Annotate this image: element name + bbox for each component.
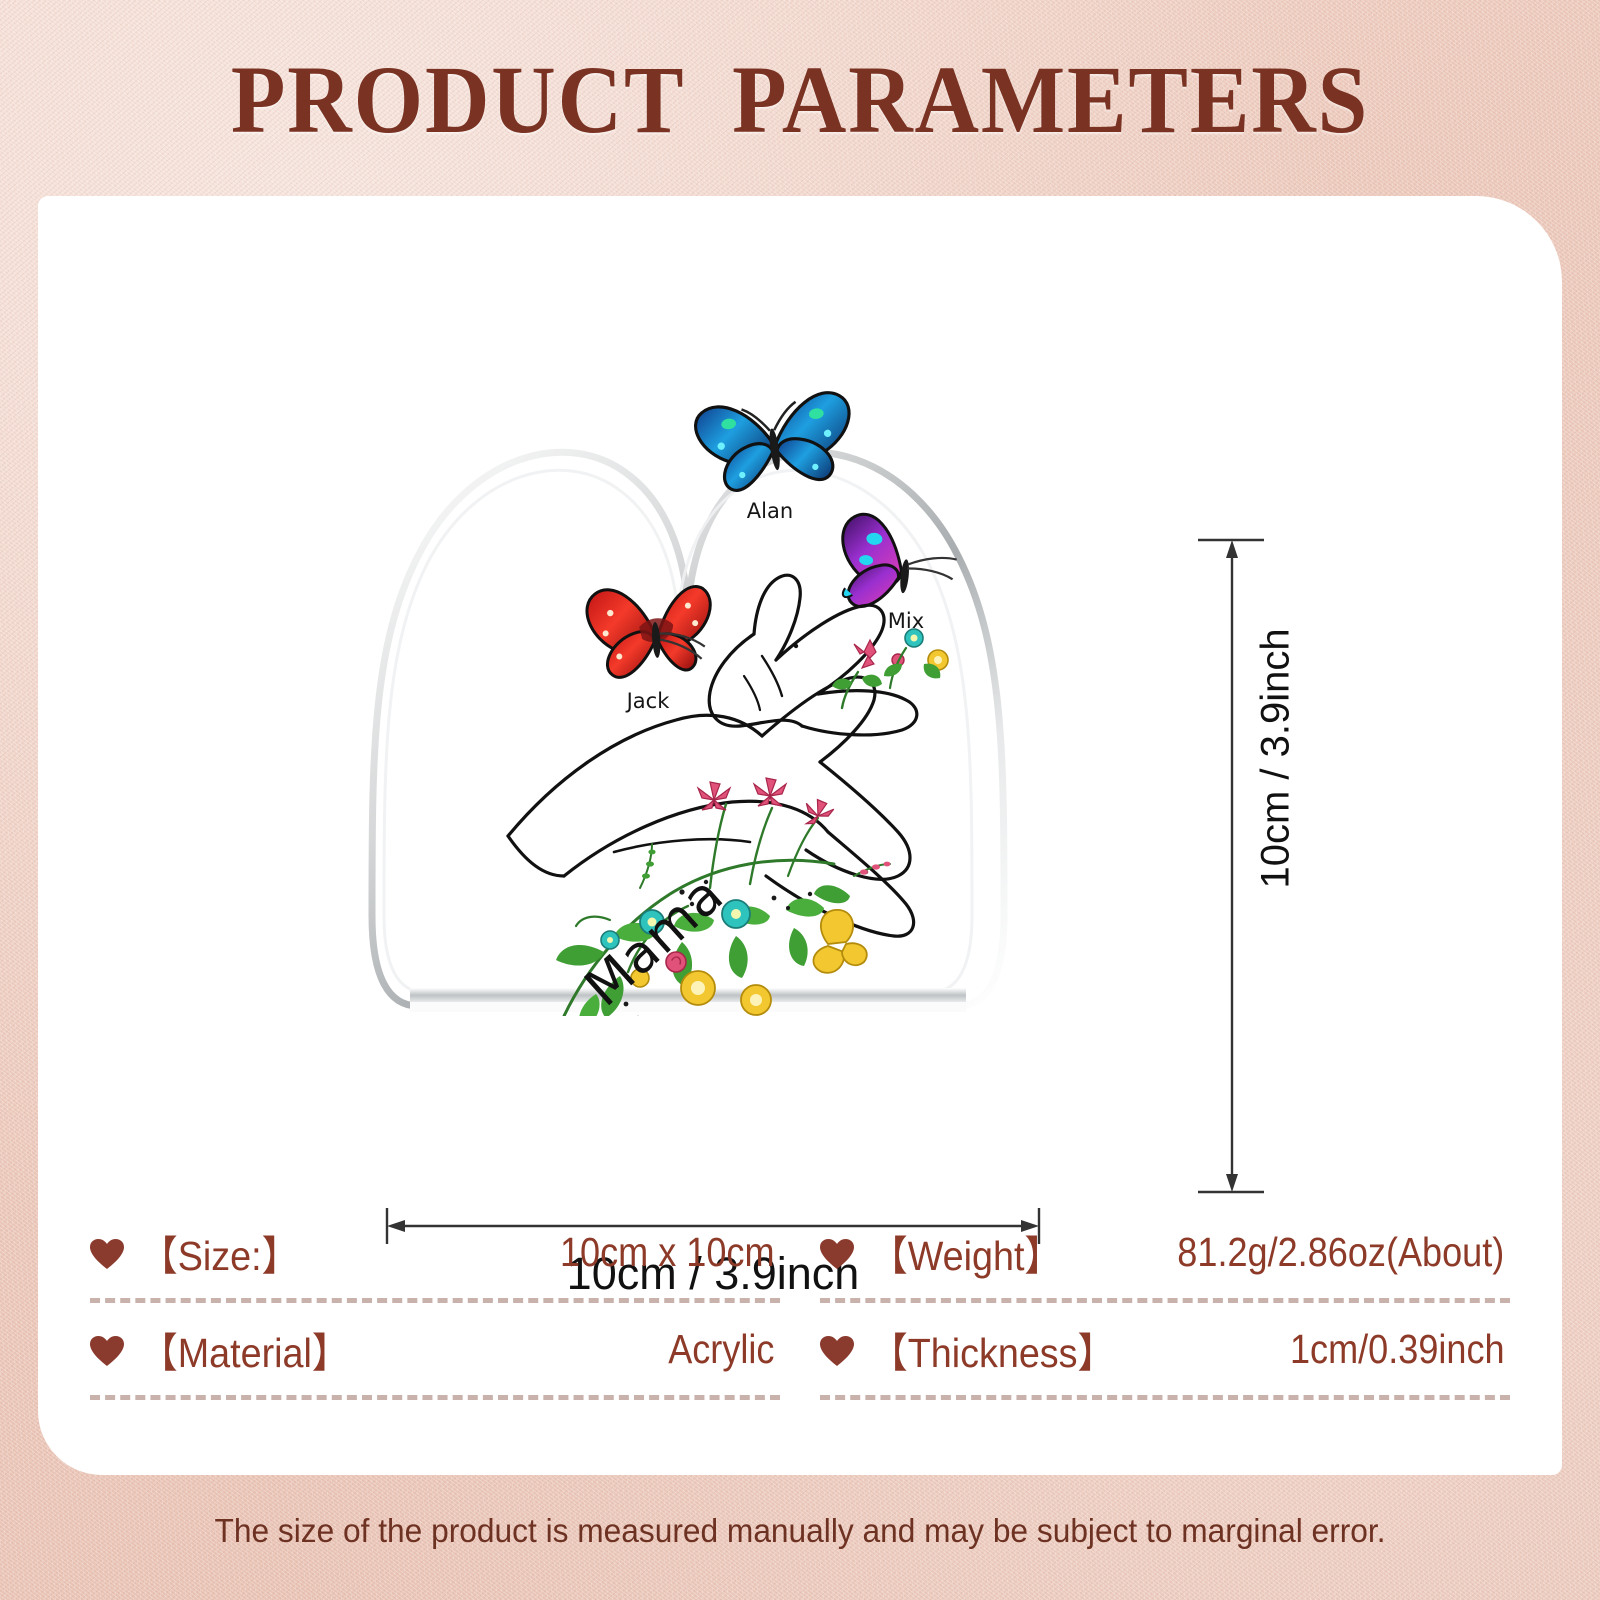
heart-bullet-icon bbox=[820, 1239, 854, 1270]
spec-divider bbox=[820, 1395, 1510, 1400]
measurement-disclaimer: The size of the product is measured manu… bbox=[32, 1512, 1568, 1550]
page-title: PRODUCT PARAMETERS bbox=[56, 44, 1544, 155]
content-card: Alan Mix bbox=[38, 196, 1562, 1475]
spec-column-right: 【Weight】 81.2g/2.86oz(About) 【Thickness】… bbox=[820, 1206, 1510, 1456]
spec-value-material: Acrylic bbox=[668, 1326, 780, 1373]
spec-row-thickness: 【Thickness】 1cm/0.39inch bbox=[820, 1303, 1510, 1395]
spec-label-material: 【Material】 bbox=[140, 1319, 350, 1379]
heart-bullet-icon bbox=[820, 1336, 854, 1367]
spec-label-size: 【Size:】 bbox=[140, 1222, 299, 1282]
spec-value-thickness: 1cm/0.39inch bbox=[1290, 1326, 1510, 1373]
dimension-label-vertical: 10cm / 3.9inch bbox=[1254, 628, 1299, 888]
spec-value-weight: 81.2g/2.86oz(About) bbox=[1178, 1229, 1510, 1276]
product-preview-stage: Alan Mix bbox=[38, 196, 1562, 1136]
heart-bullet-icon bbox=[90, 1336, 124, 1367]
spec-row-weight: 【Weight】 81.2g/2.86oz(About) bbox=[820, 1206, 1510, 1298]
spec-row-size: 【Size:】 10cm x 10cm bbox=[90, 1206, 780, 1298]
heart-bullet-icon bbox=[90, 1239, 124, 1270]
spec-label-thickness: 【Thickness】 bbox=[870, 1319, 1115, 1379]
spec-table: 【Size:】 10cm x 10cm 【Material】 Acrylic 【… bbox=[38, 1206, 1562, 1456]
spec-column-left: 【Size:】 10cm x 10cm 【Material】 Acrylic bbox=[90, 1206, 780, 1456]
spec-value-size: 10cm x 10cm bbox=[560, 1229, 780, 1276]
spec-divider bbox=[90, 1395, 780, 1400]
spec-label-weight: 【Weight】 bbox=[870, 1222, 1062, 1282]
spec-row-material: 【Material】 Acrylic bbox=[90, 1303, 780, 1395]
